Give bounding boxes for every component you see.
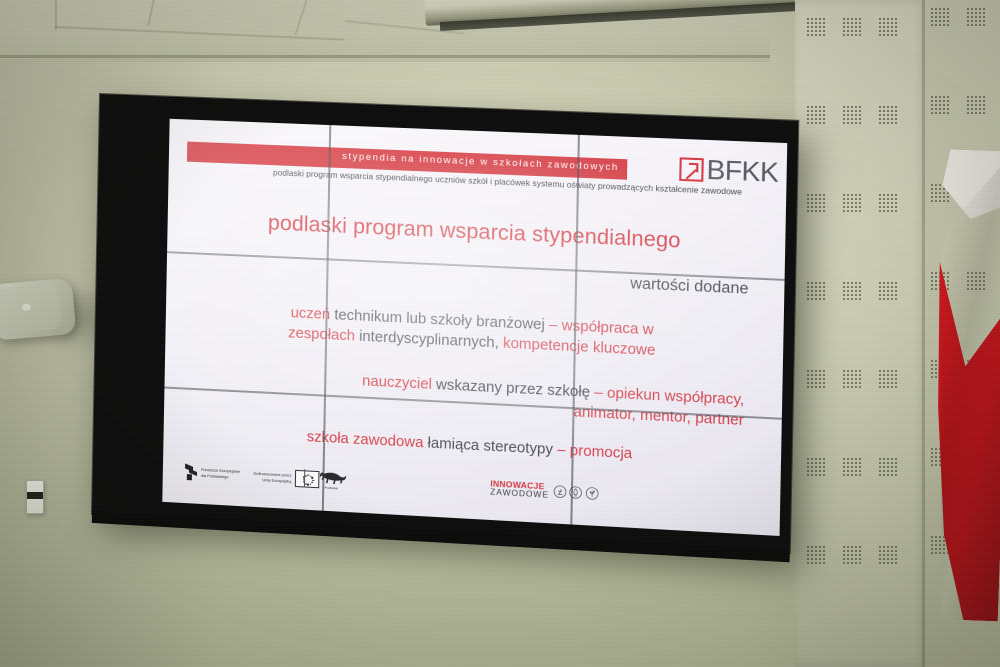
display-screen[interactable]: stypendia na innowacje w szkołach zawodo… xyxy=(162,119,787,536)
content-block-uczen: uczeń technikum lub szkoły branżowej – w… xyxy=(202,299,746,366)
acoustic-panel-left xyxy=(795,0,925,667)
ceiling-seam xyxy=(55,26,345,41)
presentation-slide: stypendia na innowacje w szkołach zawodo… xyxy=(162,119,787,536)
flag-fold-shading xyxy=(912,149,1000,622)
innowacje-line2: ZAWODOWE xyxy=(490,488,549,500)
fundusze-europejskie-icon xyxy=(185,463,198,481)
wall-switch[interactable] xyxy=(26,480,44,514)
bfkk-logo: BFKK xyxy=(679,155,778,187)
eu-funding-logo: Dofinansowane przez Unię Europejską xyxy=(253,468,320,489)
podlaskie-bison-logo: Podlaskie xyxy=(316,469,347,490)
fe-line2: dla Podlaskiego xyxy=(201,472,229,479)
tree-circle-icon xyxy=(585,487,599,501)
bfkk-logo-text: BFKK xyxy=(706,156,778,187)
speaker-grille xyxy=(0,283,62,334)
ceiling-seam xyxy=(147,0,155,26)
slide-header: stypendia na innowacje w szkołach zawodo… xyxy=(168,137,787,217)
slide-title: podlaski program wsparcia stypendialnego xyxy=(167,207,785,258)
fundusze-europejskie-text: Fundusze Europejskie dla Podlaskiego xyxy=(201,467,240,480)
innowacje-zawodowe-text: INNOWACJE ZAWODOWE xyxy=(490,479,549,500)
meeting-room-photo: stypendia na innowacje w szkołach zawodo… xyxy=(0,0,1000,667)
fundusze-europejskie-logo: Fundusze Europejskie dla Podlaskiego xyxy=(185,463,240,483)
text-run-red: – współpraca w xyxy=(549,317,654,338)
ceiling-seam xyxy=(294,0,307,35)
eu-funding-text: Dofinansowane przez Unię Europejską xyxy=(253,471,291,484)
text-run-red: kompetencje kluczowe xyxy=(503,336,656,360)
innowacje-icon-set xyxy=(553,485,599,501)
polish-flag xyxy=(912,149,1000,622)
text-run-red: – promocja xyxy=(557,442,632,462)
text-run-red: nauczyciel xyxy=(362,373,436,393)
wall-speaker xyxy=(0,278,76,341)
innowacje-zawodowe-logo: INNOWACJE ZAWODOWE xyxy=(490,479,599,503)
video-wall-display[interactable]: stypendia na innowacje w szkołach zawodo… xyxy=(92,94,798,553)
text-run-dark: łamiąca stereotypy xyxy=(427,435,557,458)
square-arrow-icon xyxy=(679,157,704,182)
bison-label: Podlaskie xyxy=(325,485,339,490)
switch-bar-icon xyxy=(27,492,43,499)
text-run-dark: interdyscyplinarnych, xyxy=(359,329,503,352)
microscope-icon xyxy=(553,485,567,499)
ceiling-edge xyxy=(0,55,770,58)
slide-subtitle: wartości dodane xyxy=(167,254,749,299)
content-block-nauczyciel: nauczyciel wskazany przez szkołę – opiek… xyxy=(200,363,744,431)
eu-line2: Unię Europejską xyxy=(262,477,291,484)
text-run-red: uczeń xyxy=(290,305,334,323)
bison-icon xyxy=(316,469,347,486)
text-run-red: zespołach xyxy=(288,325,359,345)
